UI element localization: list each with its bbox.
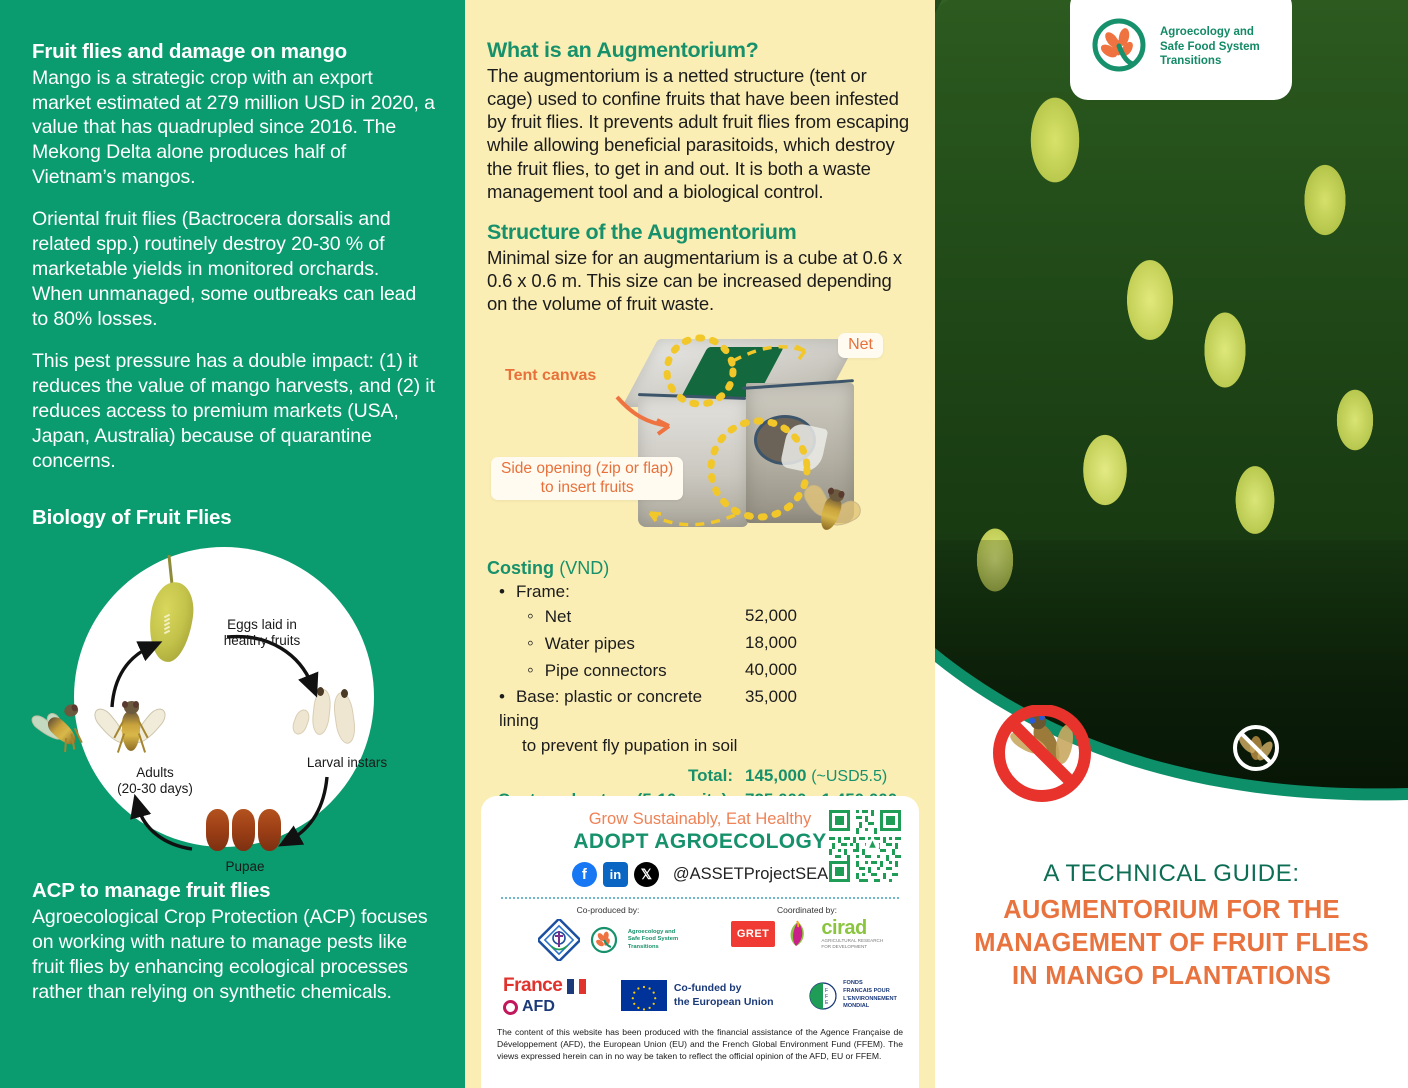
- paragraph-acp: Agroecological Crop Protection (ACP) foc…: [32, 905, 435, 1005]
- eu-funding-text: Co-funded bythe European Union: [674, 982, 774, 1009]
- coproduced-logos: Agroecology andSafe Food SystemTransitio…: [538, 919, 678, 961]
- cycle-label-larval-instars: Larval instars: [287, 755, 407, 771]
- asset-logo-text: Agroecology andSafe Food SystemTransitio…: [628, 929, 678, 952]
- paragraph-what-is-augmentorium: The augmentorium is a netted structure (…: [487, 64, 913, 203]
- agroecology-asset-logo: [590, 926, 618, 954]
- co-funded-european-union-logo: Co-funded bythe European Union: [621, 980, 774, 1011]
- disclaimer-text: The content of this website has been pro…: [497, 1026, 903, 1063]
- divider: [501, 897, 899, 899]
- cost-row: to prevent fly pupation in soil: [487, 734, 913, 758]
- cost-row: Net 52,000: [487, 604, 913, 631]
- promo-card: Grow Sustainably, Eat Healthy ADOPT AGRO…: [481, 796, 919, 1088]
- augmentorium-diagram: Net Tent canvas Side opening (zip or fla…: [487, 329, 913, 554]
- heading-what-is-augmentorium: What is an Augmentorium?: [487, 38, 913, 63]
- biology-section: Biology of Fruit Flies: [32, 506, 435, 868]
- total-value: 145,000 (~USD5.5): [745, 764, 913, 789]
- heading-structure: Structure of the Augmentorium: [487, 220, 913, 245]
- coproduced-group: Co-produced by:: [503, 905, 713, 961]
- funder-logos-row: France AFD: [497, 975, 903, 1016]
- facebook-icon[interactable]: f: [572, 862, 597, 887]
- france-afd-logo: France AFD: [503, 975, 586, 1016]
- callout-net: Net: [838, 333, 883, 358]
- national-emblem-logo: [538, 919, 580, 961]
- middle-cream-panel: What is an Augmentorium? The augmentoriu…: [465, 0, 935, 1088]
- social-handle: @ASSETProjectSEA: [673, 865, 828, 884]
- brand-name: Agroecology andSafe Food SystemTransitio…: [1160, 25, 1260, 68]
- no-fruit-fly-white-icon: [1230, 722, 1282, 774]
- left-green-panel: Fruit flies and damage on mango Mango is…: [0, 0, 465, 1088]
- cost-label: Frame:: [487, 580, 745, 604]
- cost-label: to prevent fly pupation in soil: [487, 734, 745, 758]
- cycle-label-eggs: Eggs laid inhealthy fruits: [202, 617, 322, 648]
- coordinated-group: Coordinated by: GRET cirad AGRICULTURAL …: [717, 905, 897, 949]
- ffem-globe-icon: F F E: [808, 981, 838, 1011]
- ffem-text: FONDSFRANCAIS POURL'ENVIRONNEMENTMONDIAL: [843, 980, 897, 1010]
- cost-value: 35,000: [745, 685, 913, 733]
- cost-label: Net: [487, 604, 745, 631]
- paragraph-pest-pressure: This pest pressure has a double impact: …: [32, 349, 435, 474]
- costing-section: Costing (VND) Frame: Net 52,000 Water pi…: [487, 558, 913, 813]
- costing-title: Costing (VND): [487, 558, 913, 580]
- total-label: Total:: [487, 764, 745, 789]
- qr-code[interactable]: [829, 810, 901, 882]
- cost-value: 40,000: [745, 658, 913, 685]
- cover-subtitle: A TECHNICAL GUIDE:: [963, 860, 1380, 888]
- fruit-fly-life-cycle-diagram: Eggs laid inhealthy fruits Larval instar…: [32, 537, 432, 867]
- cost-row: Frame:: [487, 580, 913, 604]
- cost-label: Pipe connectors: [487, 658, 745, 685]
- cover-title-block: A TECHNICAL GUIDE: AUGMENTORIUM FOR THE …: [935, 860, 1408, 993]
- paragraph-oriental-fruit-flies: Oriental fruit flies (Bactrocera dorsali…: [32, 207, 435, 332]
- callout-tent-canvas: Tent canvas: [505, 367, 596, 386]
- brochure-page: Fruit flies and damage on mango Mango is…: [0, 0, 1408, 1088]
- cycle-label-adults: Adults(20-30 days): [90, 765, 220, 796]
- linkedin-icon[interactable]: in: [603, 862, 628, 887]
- callout-side-opening: Side opening (zip or flap)to insert frui…: [491, 457, 683, 500]
- section-heading-acp: ACP to manage fruit flies: [32, 879, 435, 903]
- right-photo-panel: A TECHNICAL GUIDE: AUGMENTORIUM FOR THE …: [935, 0, 1408, 1088]
- coproduced-label: Co-produced by:: [577, 905, 640, 915]
- cost-row: Water pipes 18,000: [487, 631, 913, 658]
- cirad-logo-text: cirad AGRICULTURAL RESEARCHFOR DEVELOPME…: [821, 919, 883, 949]
- eu-flag-icon: [621, 980, 667, 1011]
- cost-value: [745, 580, 913, 604]
- agroecology-leaf-circle-logo: [1088, 16, 1150, 78]
- cycle-label-pupae: Pupae: [200, 859, 290, 875]
- cost-label: Water pipes: [487, 631, 745, 658]
- section-heading-biology: Biology of Fruit Flies: [32, 506, 435, 530]
- partner-logos-row: Co-produced by:: [497, 905, 903, 961]
- acp-section: ACP to manage fruit flies Agroecological…: [32, 879, 435, 1004]
- cost-row: Base: plastic or concrete lining 35,000: [487, 685, 913, 733]
- section-heading-fruit-flies: Fruit flies and damage on mango: [32, 40, 435, 64]
- x-twitter-icon[interactable]: 𝕏: [634, 862, 659, 887]
- paragraph-structure: Minimal size for an augmentarium is a cu…: [487, 246, 913, 316]
- cost-row: Pipe connectors 40,000: [487, 658, 913, 685]
- coordinated-logos: GRET cirad AGRICULTURAL RESEARCHFOR DEVE…: [731, 919, 883, 949]
- no-fruit-fly-red-icon: [985, 705, 1100, 820]
- cost-label: Base: plastic or concrete lining: [487, 685, 745, 733]
- cost-total-row: Total: 145,000 (~USD5.5): [487, 764, 913, 789]
- cover-title: AUGMENTORIUM FOR THE MANAGEMENT OF FRUIT…: [963, 894, 1380, 993]
- cirad-leaf-icon: [785, 920, 811, 948]
- cost-value: 18,000: [745, 631, 913, 658]
- cost-value: 52,000: [745, 604, 913, 631]
- gret-logo: GRET: [731, 921, 776, 947]
- cycle-arrows: [32, 537, 432, 867]
- paragraph-mango-export: Mango is a strategic crop with an export…: [32, 66, 435, 191]
- coordinated-label: Coordinated by:: [777, 905, 837, 915]
- ffem-logo: F F E FONDSFRANCAIS POURL'ENVIRONNEMENTM…: [808, 980, 897, 1010]
- brand-logo-card: Agroecology andSafe Food SystemTransitio…: [1070, 0, 1292, 100]
